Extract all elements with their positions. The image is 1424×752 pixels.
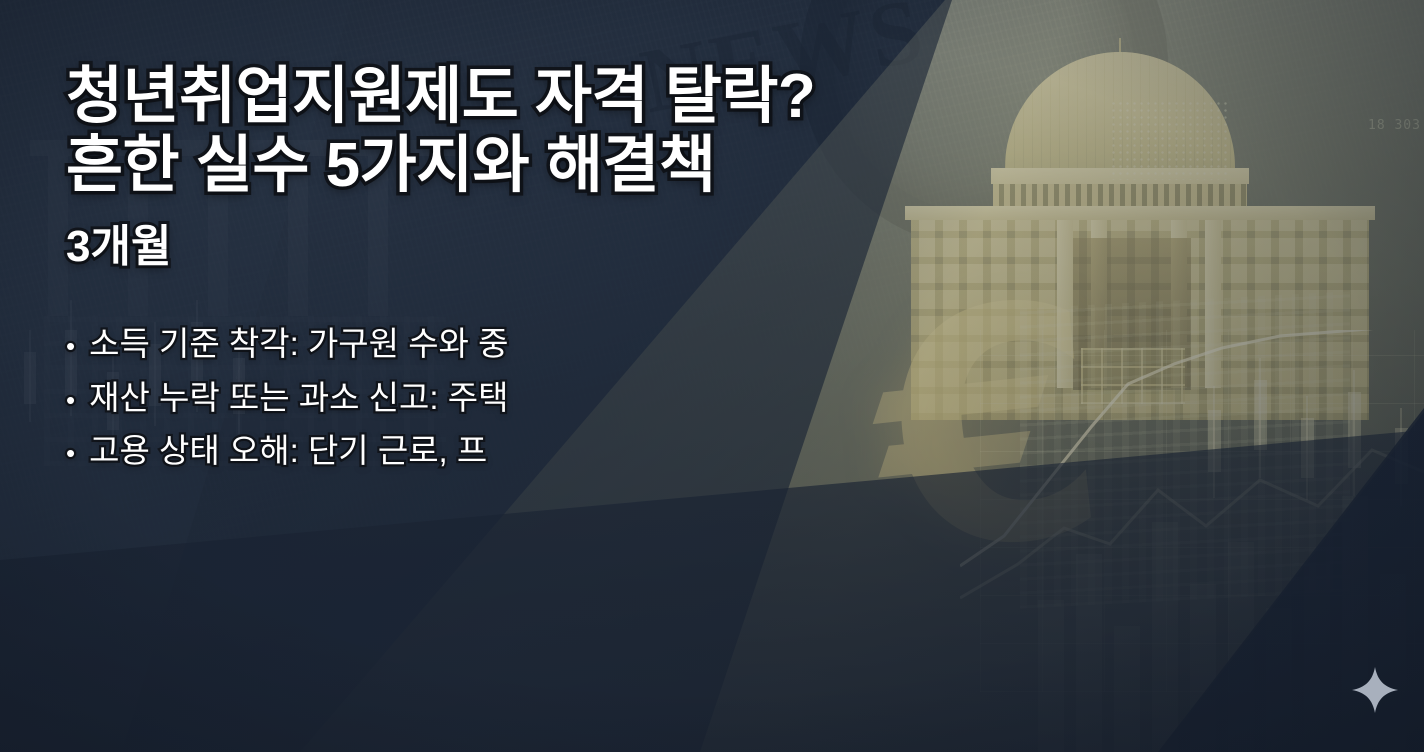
content-block: 청년취업지원제도 자격 탈락? 흔한 실수 5가지와 해결책 3개월 • 소득 … bbox=[66, 62, 946, 478]
bullet-dot-icon: • bbox=[66, 440, 75, 466]
sparkle-icon bbox=[1351, 666, 1399, 714]
list-item: • 소득 기준 착각: 가구원 수와 중 bbox=[66, 317, 946, 370]
bullet-dot-icon: • bbox=[66, 387, 75, 413]
title-line-2: 흔한 실수 5가지와 해결책 bbox=[66, 131, 946, 200]
bullet-text: 고용 상태 오해: 단기 근로, 프 bbox=[89, 424, 487, 477]
bullet-list: • 소득 기준 착각: 가구원 수와 중 • 재산 누락 또는 과소 신고: 주… bbox=[66, 317, 946, 477]
bullet-text: 재산 누락 또는 과소 신고: 주택 bbox=[89, 371, 508, 424]
subtitle: 3개월 bbox=[66, 223, 946, 271]
thumbnail-canvas: NEWS € bbox=[0, 0, 1424, 752]
list-item: • 재산 누락 또는 과소 신고: 주택 bbox=[66, 371, 946, 424]
bullet-dot-icon: • bbox=[66, 333, 75, 359]
bullet-text: 소득 기준 착각: 가구원 수와 중 bbox=[89, 317, 508, 370]
title-line-1: 청년취업지원제도 자격 탈락? bbox=[66, 62, 946, 131]
list-item: • 고용 상태 오해: 단기 근로, 프 bbox=[66, 424, 946, 477]
